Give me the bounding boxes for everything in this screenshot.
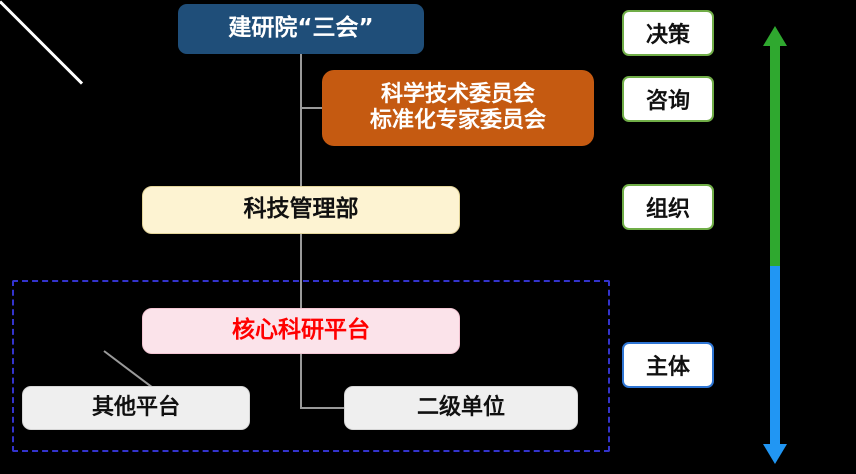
node-secondary-units[interactable]: 二级单位	[344, 386, 578, 430]
connector-vertical-middle	[300, 234, 302, 308]
level-label-decision[interactable]: 决策	[622, 10, 714, 56]
connector-horizontal-bottom	[300, 407, 346, 409]
level-label-main-body[interactable]: 主体	[622, 342, 714, 388]
node-technology-management-dept[interactable]: 科技管理部	[142, 186, 460, 234]
connector-vertical-main	[300, 54, 302, 186]
diagram-canvas: 建研院“三会” 科学技术委员会 标准化专家委员会 科技管理部 核心科研平台 其他…	[0, 0, 856, 474]
connector-diagonal-right	[0, 0, 83, 84]
up-arrow-head	[763, 26, 787, 46]
node-science-technology-committee[interactable]: 科学技术委员会 标准化专家委员会	[322, 70, 594, 146]
node-other-platforms[interactable]: 其他平台	[22, 386, 250, 430]
node-core-research-platform[interactable]: 核心科研平台	[142, 308, 460, 354]
level-label-organization[interactable]: 组织	[622, 184, 714, 230]
connector-vertical-lower	[300, 354, 302, 408]
node-sanhui[interactable]: 建研院“三会”	[178, 4, 424, 54]
down-arrow-head	[763, 444, 787, 464]
level-label-consultation[interactable]: 咨询	[622, 76, 714, 122]
connector-branch-committee	[300, 107, 324, 109]
up-arrow-shaft	[770, 44, 780, 270]
down-arrow-shaft	[770, 266, 780, 446]
